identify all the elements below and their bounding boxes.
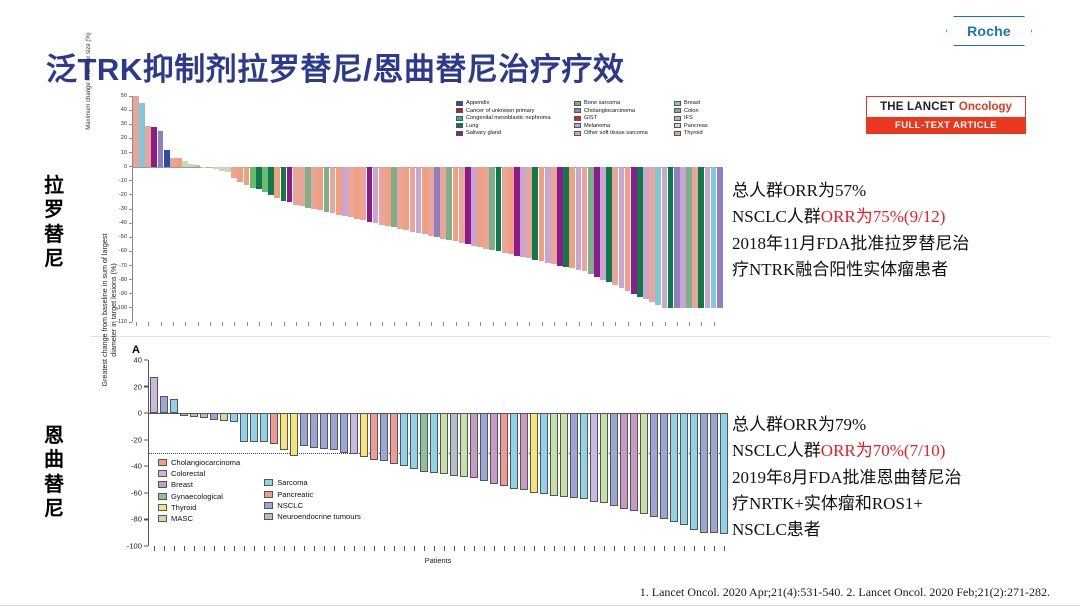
table-row (489, 167, 495, 250)
chart2-x-tick-24 (394, 546, 395, 551)
chart1-x-tick-48 (431, 322, 432, 326)
chart1-x-tick-56 (480, 322, 481, 326)
chart2-x-tick-32 (474, 546, 475, 551)
chart1-y-tick-label-5: 0 (124, 164, 127, 170)
chart2-x-tick-34 (494, 546, 495, 551)
note-entrectinib-line-1-prefix: NSCLC人群 (732, 441, 821, 460)
table-row (496, 167, 502, 252)
chart1-y-tick-label-3: 20 (121, 135, 127, 141)
chart1-x-tick-74 (591, 322, 592, 326)
table-row (348, 167, 354, 218)
chart1-legend-item: IFS (674, 115, 726, 121)
table-row (470, 413, 478, 478)
row-label-larotrectinib: 拉罗替尼 (34, 174, 74, 272)
table-row (330, 413, 338, 450)
chart2-legend-item: Colorectal (158, 469, 240, 478)
chart2-y-tick-label-1: 20 (134, 382, 142, 391)
chart1-y-tick-mark-6 (129, 180, 132, 181)
table-row (619, 167, 625, 288)
chart2-legend-swatch (264, 491, 273, 498)
chart1-x-tick-38 (370, 322, 371, 326)
note-larotrectinib-line-0: 总人群ORR为57% (732, 178, 1032, 204)
chart1-legend-swatch (456, 108, 463, 113)
table-row (440, 167, 446, 239)
chart1-y-tick-label-7: -20 (119, 192, 127, 198)
chart1-y-tick-mark-7 (129, 194, 132, 195)
chart1-y-tick-5: 0 (124, 164, 132, 170)
table-row (342, 167, 348, 216)
table-row (640, 413, 648, 514)
table-row (670, 413, 678, 522)
footer-citation: 1. Lancet Oncol. 2020 Apr;21(4):531-540.… (0, 585, 1050, 600)
chart2-x-tick-7 (224, 546, 225, 551)
table-row (390, 413, 398, 463)
chart2-legend-item: Sarcoma (264, 478, 361, 487)
table-row (240, 413, 248, 442)
table-row (711, 167, 717, 308)
chart2-x-tick-3 (184, 546, 185, 551)
chart1-y-tick-1: 40 (121, 107, 132, 113)
chart2-x-tick-43 (584, 546, 585, 551)
table-row (430, 413, 438, 473)
chart2-x-tick-27 (424, 546, 425, 551)
chart2-legend-item: Gynaecological (158, 492, 240, 501)
chart2-x-tick-51 (664, 546, 665, 551)
chart2-legend-label: MASC (171, 514, 193, 523)
chart1-y-tick-mark-12 (129, 265, 132, 266)
chart1-legend-swatch (674, 108, 681, 113)
table-row (610, 413, 618, 506)
note-entrectinib-line-1-highlight: ORR为70%(7/10) (821, 441, 946, 460)
chart2-x-tick-41 (564, 546, 565, 551)
chart1-y-tick-mark-4 (129, 152, 132, 153)
note-larotrectinib-line-1: NSCLC人群ORR为75%(9/12) (732, 204, 1032, 230)
chart1-y-tick-10: -50 (119, 234, 132, 240)
chart1-x-tick-86 (665, 322, 666, 326)
note-entrectinib-line-0: 总人群ORR为79% (732, 412, 1032, 438)
chart1-legend-label: IFS (684, 115, 693, 121)
chart1-x-tick-30 (320, 322, 321, 326)
table-row (379, 167, 385, 225)
chart2-x-tick-38 (534, 546, 535, 551)
chart1-x-tick-76 (603, 322, 604, 326)
table-row (434, 167, 440, 238)
chart1-legend-item: Cholangiocarcinoma (574, 108, 674, 114)
table-row (717, 167, 723, 308)
table-row (600, 167, 606, 280)
chart2-y-tick-mark-6 (144, 519, 148, 520)
chart1-legend-item: Salivary gland (456, 130, 574, 136)
chart1-legend-swatch (456, 131, 463, 136)
chart2-y-tick-2: 0 (138, 409, 148, 418)
note-larotrectinib-line-1-prefix: NSCLC人群 (732, 207, 821, 226)
chart1-y-tick-label-0: 50 (121, 93, 127, 99)
row-label-entrectinib-char-2: 替 (34, 473, 74, 497)
table-row (268, 167, 274, 195)
chart1-x-tick-88 (677, 322, 678, 326)
chart2-legend-item: Cholangiocarcinoma (158, 458, 240, 467)
chart1-x-tick-68 (554, 322, 555, 326)
chart2-y-axis-label: Greatest change from baseline in sum of … (100, 220, 118, 400)
chart1-x-tick-40 (382, 322, 383, 326)
chart2-legend-label: Sarcoma (277, 478, 307, 487)
chart2-x-tick-47 (624, 546, 625, 551)
chart1-x-tick-0 (136, 322, 137, 326)
note-entrectinib: 总人群ORR为79%NSCLC人群ORR为70%(7/10)2019年8月FDA… (732, 412, 1032, 544)
chart1-y-tick-mark-2 (129, 124, 132, 125)
table-row (680, 167, 686, 308)
chart2-legend-column-2: SarcomaPancreaticNSCLCNeuroendocrine tum… (264, 458, 361, 523)
chart1-y-tick-9: -40 (119, 220, 132, 226)
chart2-x-tick-49 (644, 546, 645, 551)
chart1-y-tick-label-14: -90 (119, 291, 127, 297)
table-row (576, 167, 582, 270)
roche-logo: Roche (946, 16, 1032, 46)
chart2-legend-label: Cholangiocarcinoma (171, 458, 240, 467)
table-row (440, 413, 448, 474)
table-row (256, 167, 262, 190)
chart1-x-tick-20 (259, 322, 260, 326)
table-row (530, 413, 538, 493)
note-larotrectinib-line-1-highlight: ORR为75%(9/12) (821, 207, 946, 226)
chart1-y-tick-8: -30 (119, 206, 132, 212)
row-label-entrectinib-char-3: 尼 (34, 497, 74, 521)
chart1-x-tick-42 (394, 322, 395, 326)
table-row (450, 413, 458, 475)
chart1-x-tick-4 (161, 322, 162, 326)
chart1-y-tick-mark-9 (129, 223, 132, 224)
chart1-x-tick-10 (198, 322, 199, 326)
chart2-y-tick-label-3: -20 (131, 435, 142, 444)
chart1-y-tick-15: -100 (116, 305, 132, 311)
chart1-legend-label: Pancreas (684, 123, 708, 129)
chart2-x-tick-4 (194, 546, 195, 551)
table-row (563, 167, 569, 267)
chart1-legend-swatch (674, 123, 681, 128)
chart1-y-tick-mark-11 (129, 251, 132, 252)
chart2-x-tick-33 (484, 546, 485, 551)
chart2-x-tick-6 (214, 546, 215, 551)
chart2-legend-item: MASC (158, 514, 240, 523)
chart1-legend: AppendixCancer of unknown primaryCongeni… (456, 100, 726, 136)
chart1-x-tick-66 (542, 322, 543, 326)
table-row (400, 413, 408, 466)
chart2-x-tick-11 (264, 546, 265, 551)
chart1-legend-label: Melanoma (584, 123, 610, 129)
chart2-x-tick-17 (324, 546, 325, 551)
chart2-x-tick-57 (724, 546, 725, 551)
chart1-legend-label: Other soft tissue sarcoma (584, 130, 648, 136)
chart1-x-tick-54 (468, 322, 469, 326)
chart1-legend-swatch (574, 101, 581, 106)
chart1-x-tick-12 (210, 322, 211, 326)
chart1-y-tick-label-1: 40 (121, 107, 127, 113)
chart1-y-tick-2: 30 (121, 121, 132, 127)
table-row (550, 413, 558, 495)
chart2-y-tick-label-4: -40 (131, 462, 142, 471)
table-row (336, 167, 342, 215)
chart2-x-tick-9 (244, 546, 245, 551)
chart2-x-tick-5 (204, 546, 205, 551)
chart1-legend-swatch (574, 123, 581, 128)
table-row (317, 167, 323, 211)
chart1-x-tick-84 (652, 322, 653, 326)
chart2-x-tick-45 (604, 546, 605, 551)
chart2-x-tick-20 (354, 546, 355, 551)
chart2-y-tick-7: -100 (127, 542, 148, 551)
chart1-y-tick-label-4: 10 (121, 150, 127, 156)
chart1-x-tick-50 (443, 322, 444, 326)
table-row (201, 167, 207, 168)
chart2-y-tick-label-0: 40 (134, 356, 142, 365)
table-row (250, 167, 256, 188)
table-row (164, 150, 170, 167)
table-row (594, 167, 600, 277)
chart2-legend-item: Neuroendocrine tumours (264, 512, 361, 521)
chart2-legend-label: Breast (171, 480, 193, 489)
chart2-y-tick-label-7: -100 (127, 542, 142, 551)
table-row (582, 167, 588, 272)
chart2-x-axis-label: Patients (148, 556, 728, 565)
table-row (446, 167, 452, 240)
chart2-x-tick-15 (304, 546, 305, 551)
chart1-x-tick-62 (517, 322, 518, 326)
table-row (625, 167, 631, 291)
chart2-x-tick-19 (344, 546, 345, 551)
chart1-legend-item: Pancreas (674, 123, 726, 129)
table-row (620, 413, 628, 509)
chart1-legend-swatch (674, 101, 681, 106)
table-row (643, 167, 649, 300)
chart2-legend-label: NSCLC (277, 501, 303, 510)
table-row (225, 167, 231, 173)
chart1-y-tick-4: 10 (121, 150, 132, 156)
table-row (219, 167, 225, 171)
table-row (428, 167, 434, 236)
chart1-legend-item: Other soft tissue sarcoma (574, 130, 674, 136)
chart2-y-tick-label-5: -60 (131, 488, 142, 497)
table-row (340, 413, 348, 453)
chart1-y-tick-mark-14 (129, 293, 132, 294)
chart2-legend-item: NSCLC (264, 501, 361, 510)
chart1-y-tick-mark-15 (129, 307, 132, 308)
table-row (692, 167, 698, 308)
chart2-x-tick-8 (234, 546, 235, 551)
table-row (397, 167, 403, 229)
chart1-legend-swatch (574, 116, 581, 121)
table-row (532, 167, 538, 260)
table-row (385, 167, 391, 226)
table-row (637, 167, 643, 297)
table-row (514, 167, 520, 256)
table-row (305, 167, 311, 208)
chart1-x-tick-44 (406, 322, 407, 326)
chart2-legend-item: Pancreatic (264, 490, 361, 499)
table-row (600, 413, 608, 503)
chart2-y-tick-mark-4 (144, 466, 148, 467)
table-row (508, 167, 514, 255)
table-row (237, 167, 243, 183)
table-row (686, 167, 692, 308)
table-row (490, 413, 498, 483)
chart2-y-tick-1: 20 (134, 382, 148, 391)
chart1-y-tick-label-6: -10 (119, 178, 127, 184)
table-row (310, 413, 318, 448)
table-row (194, 165, 200, 166)
chart2-legend-label: Neuroendocrine tumours (277, 512, 361, 521)
chart2-x-tick-2 (174, 546, 175, 551)
chart1-legend-label: Cholangiocarcinoma (584, 108, 635, 114)
table-row (244, 167, 250, 185)
chart2-x-tick-36 (514, 546, 515, 551)
page-title: 泛TRK抑制剂拉罗替尼/恩曲替尼治疗疗效 (46, 44, 624, 89)
chart1-legend-item: Melanoma (574, 123, 674, 129)
table-row (213, 167, 219, 170)
chart1-legend-label: Salivary gland (466, 130, 501, 136)
table-row (477, 167, 483, 248)
chart1-legend-item: Breast (674, 100, 726, 106)
chart1-x-tick-80 (628, 322, 629, 326)
table-row (207, 167, 213, 168)
chart1-x-tick-16 (234, 322, 235, 326)
chart2-y-tick-3: -20 (131, 435, 148, 444)
chart2-x-tick-26 (414, 546, 415, 551)
table-row (290, 413, 298, 456)
chart1-x-tick-72 (579, 322, 580, 326)
chart1-legend-label: Colon (684, 108, 699, 114)
chart1-legend-label: Congenital mesoblastic nephroma (466, 115, 551, 121)
table-row (705, 167, 711, 308)
chart1-y-tick-mark-3 (129, 138, 132, 139)
chart1-y-tick-label-9: -40 (119, 220, 127, 226)
table-row (500, 413, 508, 486)
table-row (170, 399, 178, 414)
chart1-legend-swatch (574, 131, 581, 136)
table-row (274, 167, 280, 198)
chart2-x-tick-39 (544, 546, 545, 551)
chart2-legend-column-1: CholangiocarcinomaColorectalBreastGynaec… (158, 458, 240, 523)
chart2-x-tick-28 (434, 546, 435, 551)
chart1-x-tick-32 (333, 322, 334, 326)
chart2-x-tick-18 (334, 546, 335, 551)
chart1-legend-column-2: Bone sarcomaCholangiocarcinomaGISTMelano… (574, 100, 674, 136)
chart2-x-tick-23 (384, 546, 385, 551)
table-row (354, 167, 360, 219)
table-row (190, 413, 198, 417)
chart2-legend-swatch (264, 479, 273, 486)
chart2-x-tick-13 (284, 546, 285, 551)
chart2-panel-letter: A (132, 344, 140, 356)
chart1-y-tick-13: -80 (119, 277, 132, 283)
chart2-legend-swatch (158, 493, 167, 500)
row-label-larotrectinib-char-2: 替 (34, 223, 74, 247)
note-larotrectinib-line-2: 2018年11月FDA批准拉罗替尼治 (732, 231, 1032, 257)
chart1-legend-label: GIST (584, 115, 597, 121)
table-row (151, 127, 157, 167)
chart1-x-tick-6 (173, 322, 174, 326)
chart2-legend-label: Colorectal (171, 469, 205, 478)
chart-entrectinib-waterfall: A Greatest change from baseline in sum o… (96, 344, 736, 576)
table-row (158, 131, 164, 166)
table-row (580, 413, 588, 499)
chart1-y-tick-mark-13 (129, 279, 132, 280)
table-row (416, 167, 422, 233)
table-row (262, 167, 268, 192)
table-row (350, 413, 358, 454)
chart1-legend-label: Breast (684, 100, 700, 106)
table-row (281, 167, 287, 201)
chart1-y-tick-3: 20 (121, 135, 132, 141)
chart2-legend-swatch (158, 504, 167, 511)
chart1-x-tick-14 (222, 322, 223, 326)
chart1-legend-label: Appendix (466, 100, 489, 106)
chart1-legend-label: Lung (466, 123, 478, 129)
table-row (570, 413, 578, 498)
table-row (380, 413, 388, 461)
chart1-x-tick-36 (357, 322, 358, 326)
badge-title-row: THE LANCET Oncology (867, 97, 1025, 117)
roche-logo-text: Roche (946, 16, 1032, 46)
chart1-y-tick-label-10: -50 (119, 234, 127, 240)
chart1-legend-column-3: BreastColonIFSPancreasThyroid (674, 100, 726, 136)
table-row (502, 167, 508, 253)
chart2-y-tick-5: -60 (131, 488, 148, 497)
table-row (188, 164, 194, 167)
table-row (324, 167, 330, 212)
chart2-legend-swatch (158, 481, 167, 488)
table-row (391, 167, 397, 228)
badge-oncology-text: Oncology (959, 101, 1012, 113)
table-row (360, 413, 368, 457)
chart2-x-tick-25 (404, 546, 405, 551)
table-row (300, 413, 308, 446)
chart2-x-tick-52 (674, 546, 675, 551)
footer-divider (0, 605, 1080, 606)
chart1-x-ticks (133, 322, 722, 326)
table-row (510, 413, 518, 489)
table-row (231, 167, 237, 178)
note-entrectinib-line-1: NSCLC人群ORR为70%(7/10) (732, 438, 1032, 464)
chart2-x-tick-10 (254, 546, 255, 551)
chart2-x-tick-21 (364, 546, 365, 551)
table-row (330, 167, 336, 214)
table-row (367, 167, 373, 222)
table-row (150, 377, 158, 413)
chart2-x-tick-44 (594, 546, 595, 551)
note-entrectinib-line-2: 2019年8月FDA批准恩曲替尼治 (732, 465, 1032, 491)
chart1-legend-item: Appendix (456, 100, 574, 106)
row-label-entrectinib: 恩曲替尼 (34, 424, 74, 522)
chart1-x-tick-34 (345, 322, 346, 326)
table-row (630, 413, 638, 511)
table-row (311, 167, 317, 209)
chart2-y-tick-label-2: 0 (138, 409, 142, 418)
lancet-oncology-badge[interactable]: THE LANCET Oncology FULL-TEXT ARTICLE (866, 96, 1026, 134)
table-row (606, 167, 612, 283)
note-entrectinib-line-4: NSCLC患者 (732, 517, 1032, 543)
table-row (230, 413, 238, 422)
table-row (410, 413, 418, 469)
chart2-x-tick-56 (714, 546, 715, 551)
chart2-x-tick-50 (654, 546, 655, 551)
row-label-larotrectinib-char-3: 尼 (34, 247, 74, 271)
table-row (700, 413, 708, 533)
table-row (176, 158, 182, 166)
chart2-x-tick-37 (524, 546, 525, 551)
chart1-legend-label: Cancer of unknown primary (466, 108, 534, 114)
table-row (373, 167, 379, 224)
chart1-x-tick-28 (308, 322, 309, 326)
